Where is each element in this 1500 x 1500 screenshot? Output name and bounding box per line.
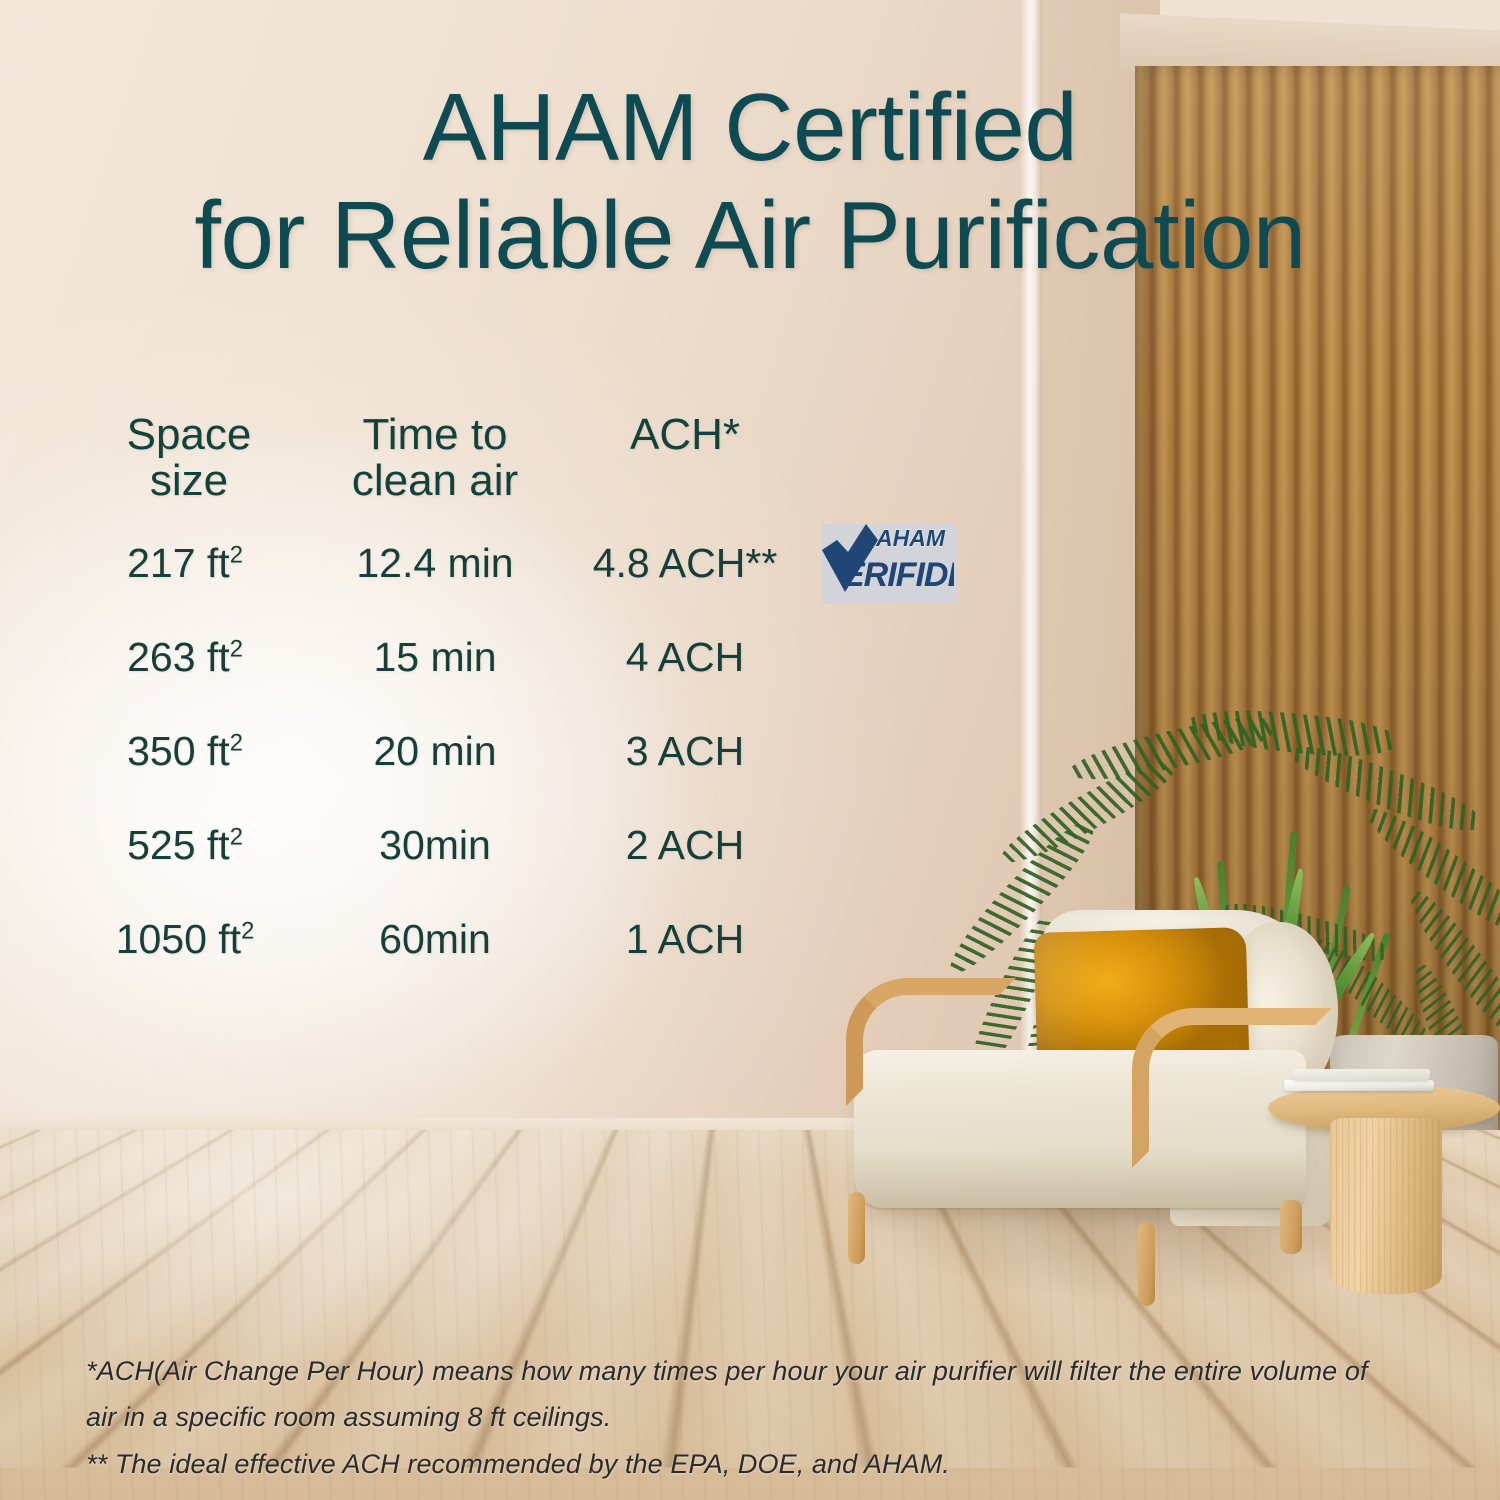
table-base (1330, 1118, 1442, 1294)
cell-time: 30min (310, 822, 560, 869)
cell-ach: 4 ACH (560, 634, 810, 681)
cell-space-size-exponent: 2 (230, 635, 243, 662)
table-row: 350 ft2 20 min 3 ACH (60, 704, 860, 798)
cell-time: 12.4 min (310, 540, 560, 587)
page-title: AHAM Certified for Reliable Air Purifica… (0, 74, 1500, 289)
cell-time: 60min (310, 916, 560, 963)
cell-space-size-exponent: 2 (230, 729, 243, 756)
aham-logo-body: AHAM ERIFIDE (818, 518, 954, 598)
cell-space-size: 525 ft2 (60, 822, 310, 869)
cell-space-size-value: 263 ft (127, 634, 230, 680)
footnote-line-2: air in a specific room assuming 8 ft cei… (86, 1394, 1446, 1440)
headline-line-2: for Reliable Air Purification (0, 182, 1500, 290)
chair-leg (848, 1192, 865, 1264)
cell-space-size-exponent: 2 (241, 917, 254, 944)
cell-ach: 1 ACH (560, 916, 810, 963)
table-row: 525 ft2 30min 2 ACH (60, 798, 860, 892)
book (1292, 1069, 1430, 1080)
chair-leg (1138, 1222, 1155, 1306)
footnote-line-1: *ACH(Air Change Per Hour) means how many… (86, 1348, 1446, 1394)
cell-space-size-value: 1050 ft (116, 916, 241, 962)
cell-space-size-value: 350 ft (127, 728, 230, 774)
cell-space-size: 263 ft2 (60, 634, 310, 681)
table-row: 263 ft2 15 min 4 ACH (60, 610, 860, 704)
chair-arm-left (846, 978, 1016, 1106)
specification-table: Space size Time to clean air ACH* 217 ft… (60, 412, 860, 986)
product-infographic: AHAM Certified for Reliable Air Purifica… (0, 0, 1500, 1500)
footnotes: *ACH(Air Change Per Hour) means how many… (86, 1348, 1446, 1487)
aham-logo-top-text: AHAM (875, 525, 946, 551)
cell-space-size-exponent: 2 (230, 541, 243, 568)
cell-ach: 3 ACH (560, 728, 810, 775)
cell-space-size: 217 ft2 (60, 540, 310, 587)
column-header-ach-label: ACH* (560, 412, 810, 458)
cell-space-size-value: 525 ft (127, 822, 230, 868)
column-header-ach: ACH* (560, 412, 810, 516)
column-header-space-size-line2: size (68, 458, 310, 504)
headline-line-1: AHAM Certified (0, 74, 1500, 182)
cell-space-size: 350 ft2 (60, 728, 310, 775)
cell-space-size-value: 217 ft (127, 540, 230, 586)
stacked-books (1284, 1064, 1434, 1094)
column-header-space-size: Space size (60, 412, 310, 516)
column-header-space-size-line1: Space (68, 412, 310, 458)
cell-time: 15 min (310, 634, 560, 681)
aham-verifide-logo: AHAM ERIFIDE (818, 518, 958, 606)
cell-space-size: 1050 ft2 (60, 916, 310, 963)
cell-space-size-exponent: 2 (230, 823, 243, 850)
cell-ach: 4.8 ACH** (560, 540, 810, 587)
table-header-row: Space size Time to clean air ACH* (60, 412, 860, 516)
column-header-time-line1: Time to (310, 412, 560, 458)
aham-logo-bottom-text: ERIFIDE (842, 556, 954, 594)
cell-time: 20 min (310, 728, 560, 775)
aham-verifide-mark: AHAM ERIFIDE (818, 518, 954, 598)
column-header-time-to-clean-air: Time to clean air (310, 412, 560, 516)
footnote-line-3: ** The ideal effective ACH recommended b… (86, 1441, 1446, 1487)
cell-ach: 2 ACH (560, 822, 810, 869)
column-header-time-line2: clean air (310, 458, 560, 504)
table-row: 1050 ft2 60min 1 ACH (60, 892, 860, 986)
book (1284, 1080, 1434, 1091)
round-wood-side-table (1268, 1062, 1500, 1312)
table-row: 217 ft2 12.4 min 4.8 ACH** (60, 516, 860, 610)
